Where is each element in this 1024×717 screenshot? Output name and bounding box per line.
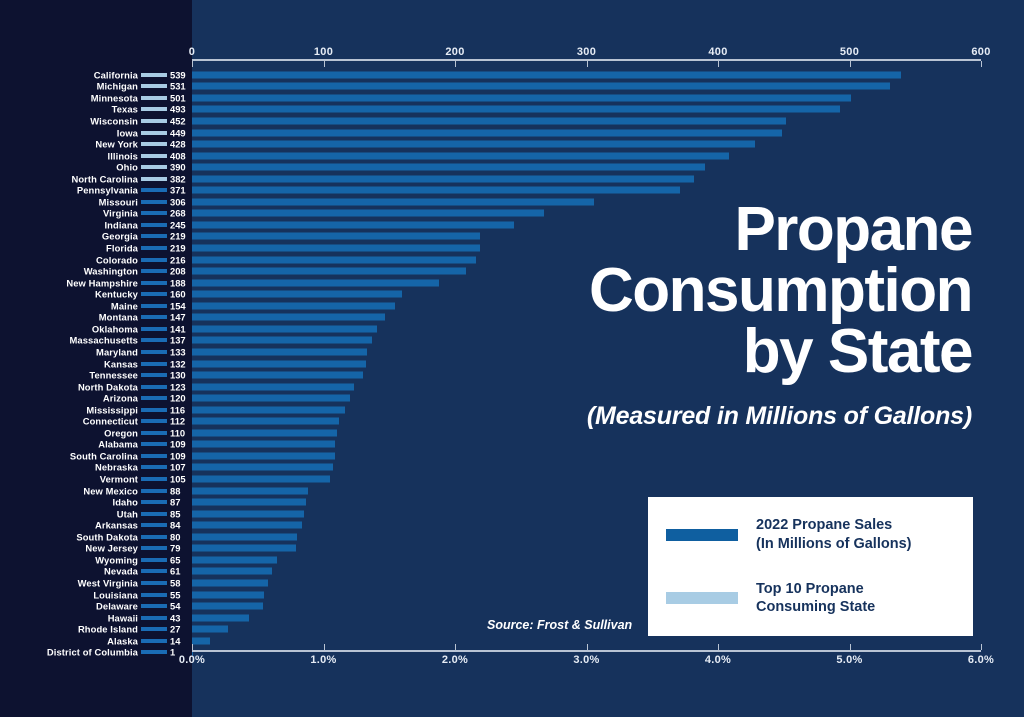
- bar: [192, 626, 228, 633]
- bar-row-connector: [141, 211, 167, 215]
- bar-row-label: South Carolina: [70, 450, 138, 461]
- bar-row-value: 219: [170, 243, 186, 254]
- bar: [192, 556, 277, 563]
- bar-row-connector: [141, 650, 167, 654]
- bar-row-value: 14: [170, 635, 180, 646]
- bar-row-connector: [141, 292, 167, 296]
- bar-row-value: 87: [170, 497, 180, 508]
- bar-row-connector: [141, 73, 167, 77]
- bottom-axis-tick: [587, 644, 588, 650]
- bar-row-label: Michigan: [97, 81, 138, 92]
- bar: [192, 314, 385, 321]
- bar-row-label: Mississippi: [86, 404, 138, 415]
- bar-row-label: Colorado: [96, 254, 138, 265]
- bar-row-label: Indiana: [104, 219, 138, 230]
- bar: [192, 383, 354, 390]
- bar: [192, 637, 210, 644]
- bar-row-connector: [141, 558, 167, 562]
- page-title: PropaneConsumptionby State: [412, 200, 972, 382]
- title-block: PropaneConsumptionby State (Measured in …: [412, 200, 972, 431]
- bar: [192, 452, 335, 459]
- bar-row: Alaska14: [0, 635, 1024, 647]
- bar-row-connector: [141, 569, 167, 573]
- bar: [192, 406, 345, 413]
- bar-row-label: Wyoming: [95, 554, 138, 565]
- bar-row-value: 65: [170, 554, 180, 565]
- bar-row-label: New Hampshire: [66, 277, 138, 288]
- bar-row: Vermont105: [0, 473, 1024, 485]
- bar-row-value: 160: [170, 289, 186, 300]
- bar: [192, 279, 439, 286]
- bar-row-connector: [141, 84, 167, 88]
- bar-row-label: Georgia: [102, 231, 138, 242]
- bar-row-connector: [141, 142, 167, 146]
- bar-row-connector: [141, 512, 167, 516]
- bar-row-connector: [141, 627, 167, 631]
- bottom-axis-tick-label: 2.0%: [442, 654, 468, 666]
- bar-row-connector: [141, 107, 167, 111]
- bar-row-value: 539: [170, 69, 186, 80]
- bar: [192, 464, 333, 471]
- bar: [192, 152, 729, 159]
- bar-row-connector: [141, 408, 167, 412]
- bottom-axis-tick-label: 1.0%: [310, 654, 336, 666]
- bar-row-connector: [141, 373, 167, 377]
- bar-row-value: 449: [170, 127, 186, 138]
- infographic-canvas: 0100200300400500600 California539Michiga…: [0, 0, 1024, 717]
- bar-row-label: Arkansas: [95, 520, 138, 531]
- bar-row-connector: [141, 304, 167, 308]
- bar-row-label: Montana: [99, 312, 138, 323]
- bar: [192, 83, 890, 90]
- bar: [192, 568, 272, 575]
- page-title-line: Consumption: [412, 261, 972, 322]
- bar: [192, 117, 786, 124]
- bar-row-connector: [141, 327, 167, 331]
- bar-row-connector: [141, 258, 167, 262]
- bar-row-label: Delaware: [96, 601, 138, 612]
- bar: [192, 106, 840, 113]
- legend-label: 2022 Propane Sales (In Millions of Gallo…: [756, 516, 911, 553]
- bar-row-label: Iowa: [117, 127, 138, 138]
- bar-row-value: 27: [170, 624, 180, 635]
- bar-row-label: Connecticut: [83, 416, 138, 427]
- bar-row-value: 58: [170, 577, 180, 588]
- bar-row-connector: [141, 246, 167, 250]
- bar: [192, 579, 268, 586]
- bar-row-connector: [141, 431, 167, 435]
- bar-row-connector: [141, 616, 167, 620]
- bar-row-value: 141: [170, 323, 186, 334]
- bar-row-value: 133: [170, 346, 186, 357]
- bar-row-value: 130: [170, 370, 186, 381]
- bar-row-value: 501: [170, 92, 186, 103]
- bar: [192, 187, 680, 194]
- bar-row: District of Columbia1: [0, 647, 1024, 659]
- bar: [192, 418, 339, 425]
- bar: [192, 603, 263, 610]
- bar-row-label: Nevada: [104, 566, 138, 577]
- bar-row-value: 109: [170, 450, 186, 461]
- bar-row: Ohio390: [0, 161, 1024, 173]
- bar-row: Michigan531: [0, 81, 1024, 93]
- bar: [192, 476, 330, 483]
- bar-row-label: Minnesota: [91, 92, 138, 103]
- bar-row-connector: [141, 489, 167, 493]
- bar-row: Minnesota501: [0, 92, 1024, 104]
- bar: [192, 302, 395, 309]
- bar: [192, 71, 901, 78]
- bar: [192, 522, 302, 529]
- bar-row-connector: [141, 419, 167, 423]
- bar-row-value: 216: [170, 254, 186, 265]
- bar-row-connector: [141, 477, 167, 481]
- bar-row-label: Missouri: [99, 196, 138, 207]
- bottom-axis-tick: [455, 644, 456, 650]
- bar-row-value: 188: [170, 277, 186, 288]
- bar-row-label: Utah: [117, 508, 138, 519]
- bar-row-value: 84: [170, 520, 180, 531]
- bar-row-connector: [141, 119, 167, 123]
- bar: [192, 175, 694, 182]
- bar-row-value: 452: [170, 115, 186, 126]
- bar-row-value: 105: [170, 474, 186, 485]
- bottom-axis-tick: [981, 644, 982, 650]
- bar-row-value: 147: [170, 312, 186, 323]
- bar-row-connector: [141, 523, 167, 527]
- bar-row-connector: [141, 535, 167, 539]
- bar: [192, 510, 304, 517]
- bar-row-label: Massachusetts: [69, 335, 138, 346]
- bar-row-value: 493: [170, 104, 186, 115]
- bottom-axis-line: [192, 650, 981, 652]
- bar-row-label: New York: [95, 139, 138, 150]
- bar: [192, 164, 705, 171]
- bar-row-value: 116: [170, 404, 185, 415]
- bar-row-value: 80: [170, 531, 180, 542]
- bar-row-label: Oregon: [104, 427, 138, 438]
- bar-row-value: 109: [170, 439, 186, 450]
- bar-row-connector: [141, 385, 167, 389]
- bar-row-connector: [141, 546, 167, 550]
- source-note: Source: Frost & Sullivan: [487, 618, 632, 632]
- bar-row-value: 428: [170, 139, 186, 150]
- bar-row-label: Maryland: [96, 346, 138, 357]
- bar-row-label: Maine: [111, 300, 138, 311]
- bar-row-label: Illinois: [108, 150, 139, 161]
- bar: [192, 395, 350, 402]
- bar-row-label: Texas: [112, 104, 138, 115]
- bar-row-value: 112: [170, 416, 185, 427]
- bottom-axis-tick-label: 0.0%: [179, 654, 205, 666]
- bar-row-value: 245: [170, 219, 186, 230]
- bar-row-value: 110: [170, 427, 185, 438]
- bottom-axis-tick: [324, 644, 325, 650]
- bar-row-connector: [141, 338, 167, 342]
- bar-row-connector: [141, 350, 167, 354]
- bar-row-label: Arizona: [103, 393, 138, 404]
- bar-row-value: 268: [170, 208, 186, 219]
- bar-row-connector: [141, 593, 167, 597]
- bar-row-value: 219: [170, 231, 186, 242]
- bar-row-connector: [141, 154, 167, 158]
- bar-row-label: Tennessee: [89, 370, 138, 381]
- bar: [192, 429, 337, 436]
- chart-subtitle: (Measured in Millions of Gallons): [412, 402, 972, 431]
- bar-row-value: 123: [170, 381, 186, 392]
- bar-row-connector: [141, 581, 167, 585]
- bottom-axis-tick-label: 5.0%: [836, 654, 862, 666]
- bar-row-value: 371: [170, 185, 186, 196]
- bar-row-label: Ohio: [116, 162, 138, 173]
- legend-swatch: [666, 529, 738, 541]
- bar-row-label: Kansas: [104, 358, 138, 369]
- bar-row-connector: [141, 165, 167, 169]
- bar-row-connector: [141, 177, 167, 181]
- bar-row-label: New Jersey: [85, 543, 138, 554]
- bar-row-label: Louisiana: [93, 589, 138, 600]
- bar-row-connector: [141, 396, 167, 400]
- bar-row-label: Alaska: [107, 635, 138, 646]
- bar: [192, 141, 755, 148]
- chart-legend: 2022 Propane Sales (In Millions of Gallo…: [648, 497, 973, 636]
- bar-row-label: Hawaii: [108, 612, 138, 623]
- bar-row-value: 154: [170, 300, 186, 311]
- bar-row-label: Vermont: [100, 474, 138, 485]
- bar-row-value: 43: [170, 612, 180, 623]
- bottom-axis-tick-label: 6.0%: [968, 654, 994, 666]
- bar-row-value: 88: [170, 485, 180, 496]
- legend-item: 2022 Propane Sales (In Millions of Gallo…: [666, 516, 955, 553]
- bar: [192, 545, 296, 552]
- bar-row-connector: [141, 269, 167, 273]
- bar-row-value: 107: [170, 462, 186, 473]
- bar-row-label: South Dakota: [76, 531, 138, 542]
- bar-row-label: Idaho: [113, 497, 139, 508]
- bar: [192, 441, 335, 448]
- bottom-axis-tick: [192, 644, 193, 650]
- bar-row-value: 120: [170, 393, 186, 404]
- legend-swatch: [666, 592, 738, 604]
- bar-row-label: North Carolina: [71, 173, 138, 184]
- bar-row-value: 54: [170, 601, 180, 612]
- legend-item: Top 10 Propane Consuming State: [666, 580, 955, 617]
- bar-row-connector: [141, 362, 167, 366]
- bar-row: South Carolina109: [0, 450, 1024, 462]
- bar-row: Nebraska107: [0, 462, 1024, 474]
- bar-row-label: California: [94, 69, 138, 80]
- bar: [192, 487, 308, 494]
- bar-row-connector: [141, 223, 167, 227]
- bar-row: Iowa449: [0, 127, 1024, 139]
- bar-row-value: 137: [170, 335, 186, 346]
- bar-row: Wisconsin452: [0, 115, 1024, 127]
- bar-row-connector: [141, 234, 167, 238]
- bar-row-connector: [141, 131, 167, 135]
- bar: [192, 499, 306, 506]
- bar-row-label: Washington: [84, 266, 138, 277]
- bar-row-label: North Dakota: [78, 381, 138, 392]
- bar-row-label: Pennsylvania: [77, 185, 138, 196]
- bar: [192, 372, 363, 379]
- bar: [192, 94, 851, 101]
- bar-row-value: 85: [170, 508, 180, 519]
- bar-row-connector: [141, 188, 167, 192]
- bar: [192, 533, 297, 540]
- bar-row-connector: [141, 442, 167, 446]
- bar-row-connector: [141, 639, 167, 643]
- legend-label: Top 10 Propane Consuming State: [756, 580, 875, 617]
- bar-row-label: New Mexico: [83, 485, 138, 496]
- bar: [192, 129, 782, 136]
- bar-row-connector: [141, 281, 167, 285]
- bar-row-label: Virginia: [103, 208, 138, 219]
- page-title-line: Propane: [412, 200, 972, 261]
- bar-row-connector: [141, 454, 167, 458]
- bar-row: North Carolina382: [0, 173, 1024, 185]
- bar: [192, 337, 372, 344]
- bar-row: New York428: [0, 138, 1024, 150]
- bar-row: California539: [0, 69, 1024, 81]
- bar-row-value: 132: [170, 358, 186, 369]
- bar: [192, 325, 377, 332]
- bar-row-label: Nebraska: [95, 462, 138, 473]
- bar-row-value: 1: [170, 647, 175, 658]
- bar-row-value: 531: [170, 81, 186, 92]
- bar-row-label: District of Columbia: [47, 647, 138, 658]
- bar-row-connector: [141, 200, 167, 204]
- bar-row-label: Alabama: [98, 439, 138, 450]
- bar-row: Texas493: [0, 104, 1024, 116]
- bar-row-connector: [141, 604, 167, 608]
- bar-row-label: West Virginia: [78, 577, 138, 588]
- bar-row-value: 79: [170, 543, 180, 554]
- bar: [192, 614, 249, 621]
- bar-row-value: 55: [170, 589, 180, 600]
- bar: [192, 291, 402, 298]
- bar-row-connector: [141, 315, 167, 319]
- bar-row-label: Kentucky: [95, 289, 138, 300]
- bar: [192, 591, 264, 598]
- bar-row-label: Wisconsin: [90, 115, 138, 126]
- bar-row-value: 408: [170, 150, 186, 161]
- bottom-axis-tick: [718, 644, 719, 650]
- bar: [192, 348, 367, 355]
- bar-row-value: 61: [170, 566, 180, 577]
- bottom-axis-tick-label: 3.0%: [573, 654, 599, 666]
- bar-row: Illinois408: [0, 150, 1024, 162]
- bar-row-value: 390: [170, 162, 186, 173]
- page-title-line: by State: [412, 322, 972, 383]
- bar: [192, 360, 366, 367]
- bar-row-value: 208: [170, 266, 186, 277]
- bar-row: Alabama109: [0, 439, 1024, 451]
- bar-row-label: Oklahoma: [92, 323, 138, 334]
- bar-row-value: 382: [170, 173, 186, 184]
- bar-row-label: Florida: [106, 243, 138, 254]
- bar-row-connector: [141, 500, 167, 504]
- bar-row-connector: [141, 96, 167, 100]
- bottom-axis-tick: [850, 644, 851, 650]
- bottom-axis-tick-label: 4.0%: [705, 654, 731, 666]
- bar-row-label: Rhode Island: [78, 624, 138, 635]
- bar-row-value: 306: [170, 196, 186, 207]
- bar-row-connector: [141, 465, 167, 469]
- bar-row: New Mexico88: [0, 485, 1024, 497]
